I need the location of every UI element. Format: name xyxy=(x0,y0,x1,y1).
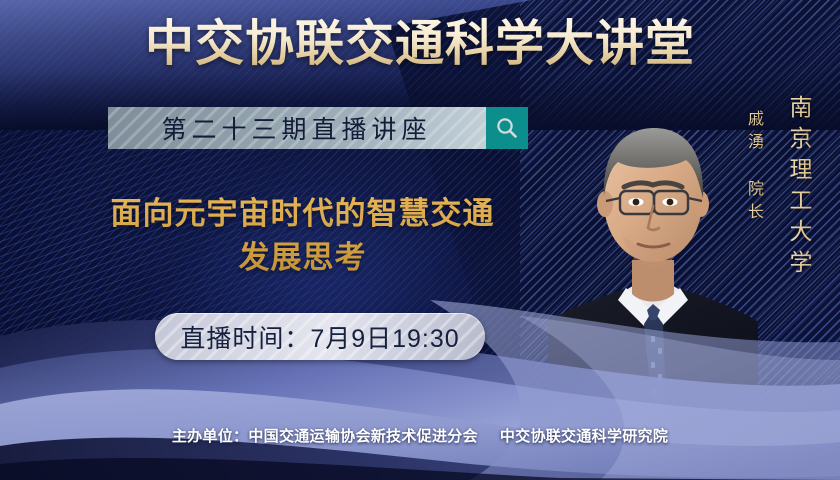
footer-organizers: 主办单位：中国交通运输协会新技术促进分会中交协联交通科学研究院 xyxy=(0,425,840,446)
speaker-affiliation: 南京理工大学 xyxy=(782,95,816,281)
live-time-badge: 直播时间：7月9日19:30 xyxy=(155,313,485,360)
episode-bar: 第二十三期直播讲座 xyxy=(108,107,528,149)
footer-organizer-1: 中国交通运输协会新技术促进分会 xyxy=(248,428,478,445)
search-button[interactable] xyxy=(486,107,528,149)
live-time-label: 直播时间：7月9日19:30 xyxy=(180,319,459,355)
headline-line-1: 面向元宇宙时代的智慧交通 xyxy=(40,192,565,236)
footer-organizer-label: 主办单位： xyxy=(172,428,249,445)
headline-line-2: 发展思考 xyxy=(40,236,565,280)
lecture-headline: 面向元宇宙时代的智慧交通 发展思考 xyxy=(40,192,565,280)
live-lecture-poster: 中交协联交通科学大讲堂 第二十三期直播讲座 面向元宇宙时代的智慧交通 发展思考 … xyxy=(0,0,840,480)
episode-bar-label: 第二十三期直播讲座 xyxy=(108,110,486,146)
footer-organizer-2: 中交协联交通科学研究院 xyxy=(500,428,668,445)
speaker-name-title: 戚湧 院长 xyxy=(741,110,765,226)
search-icon xyxy=(495,116,519,140)
page-title: 中交协联交通科学大讲堂 xyxy=(0,16,840,74)
